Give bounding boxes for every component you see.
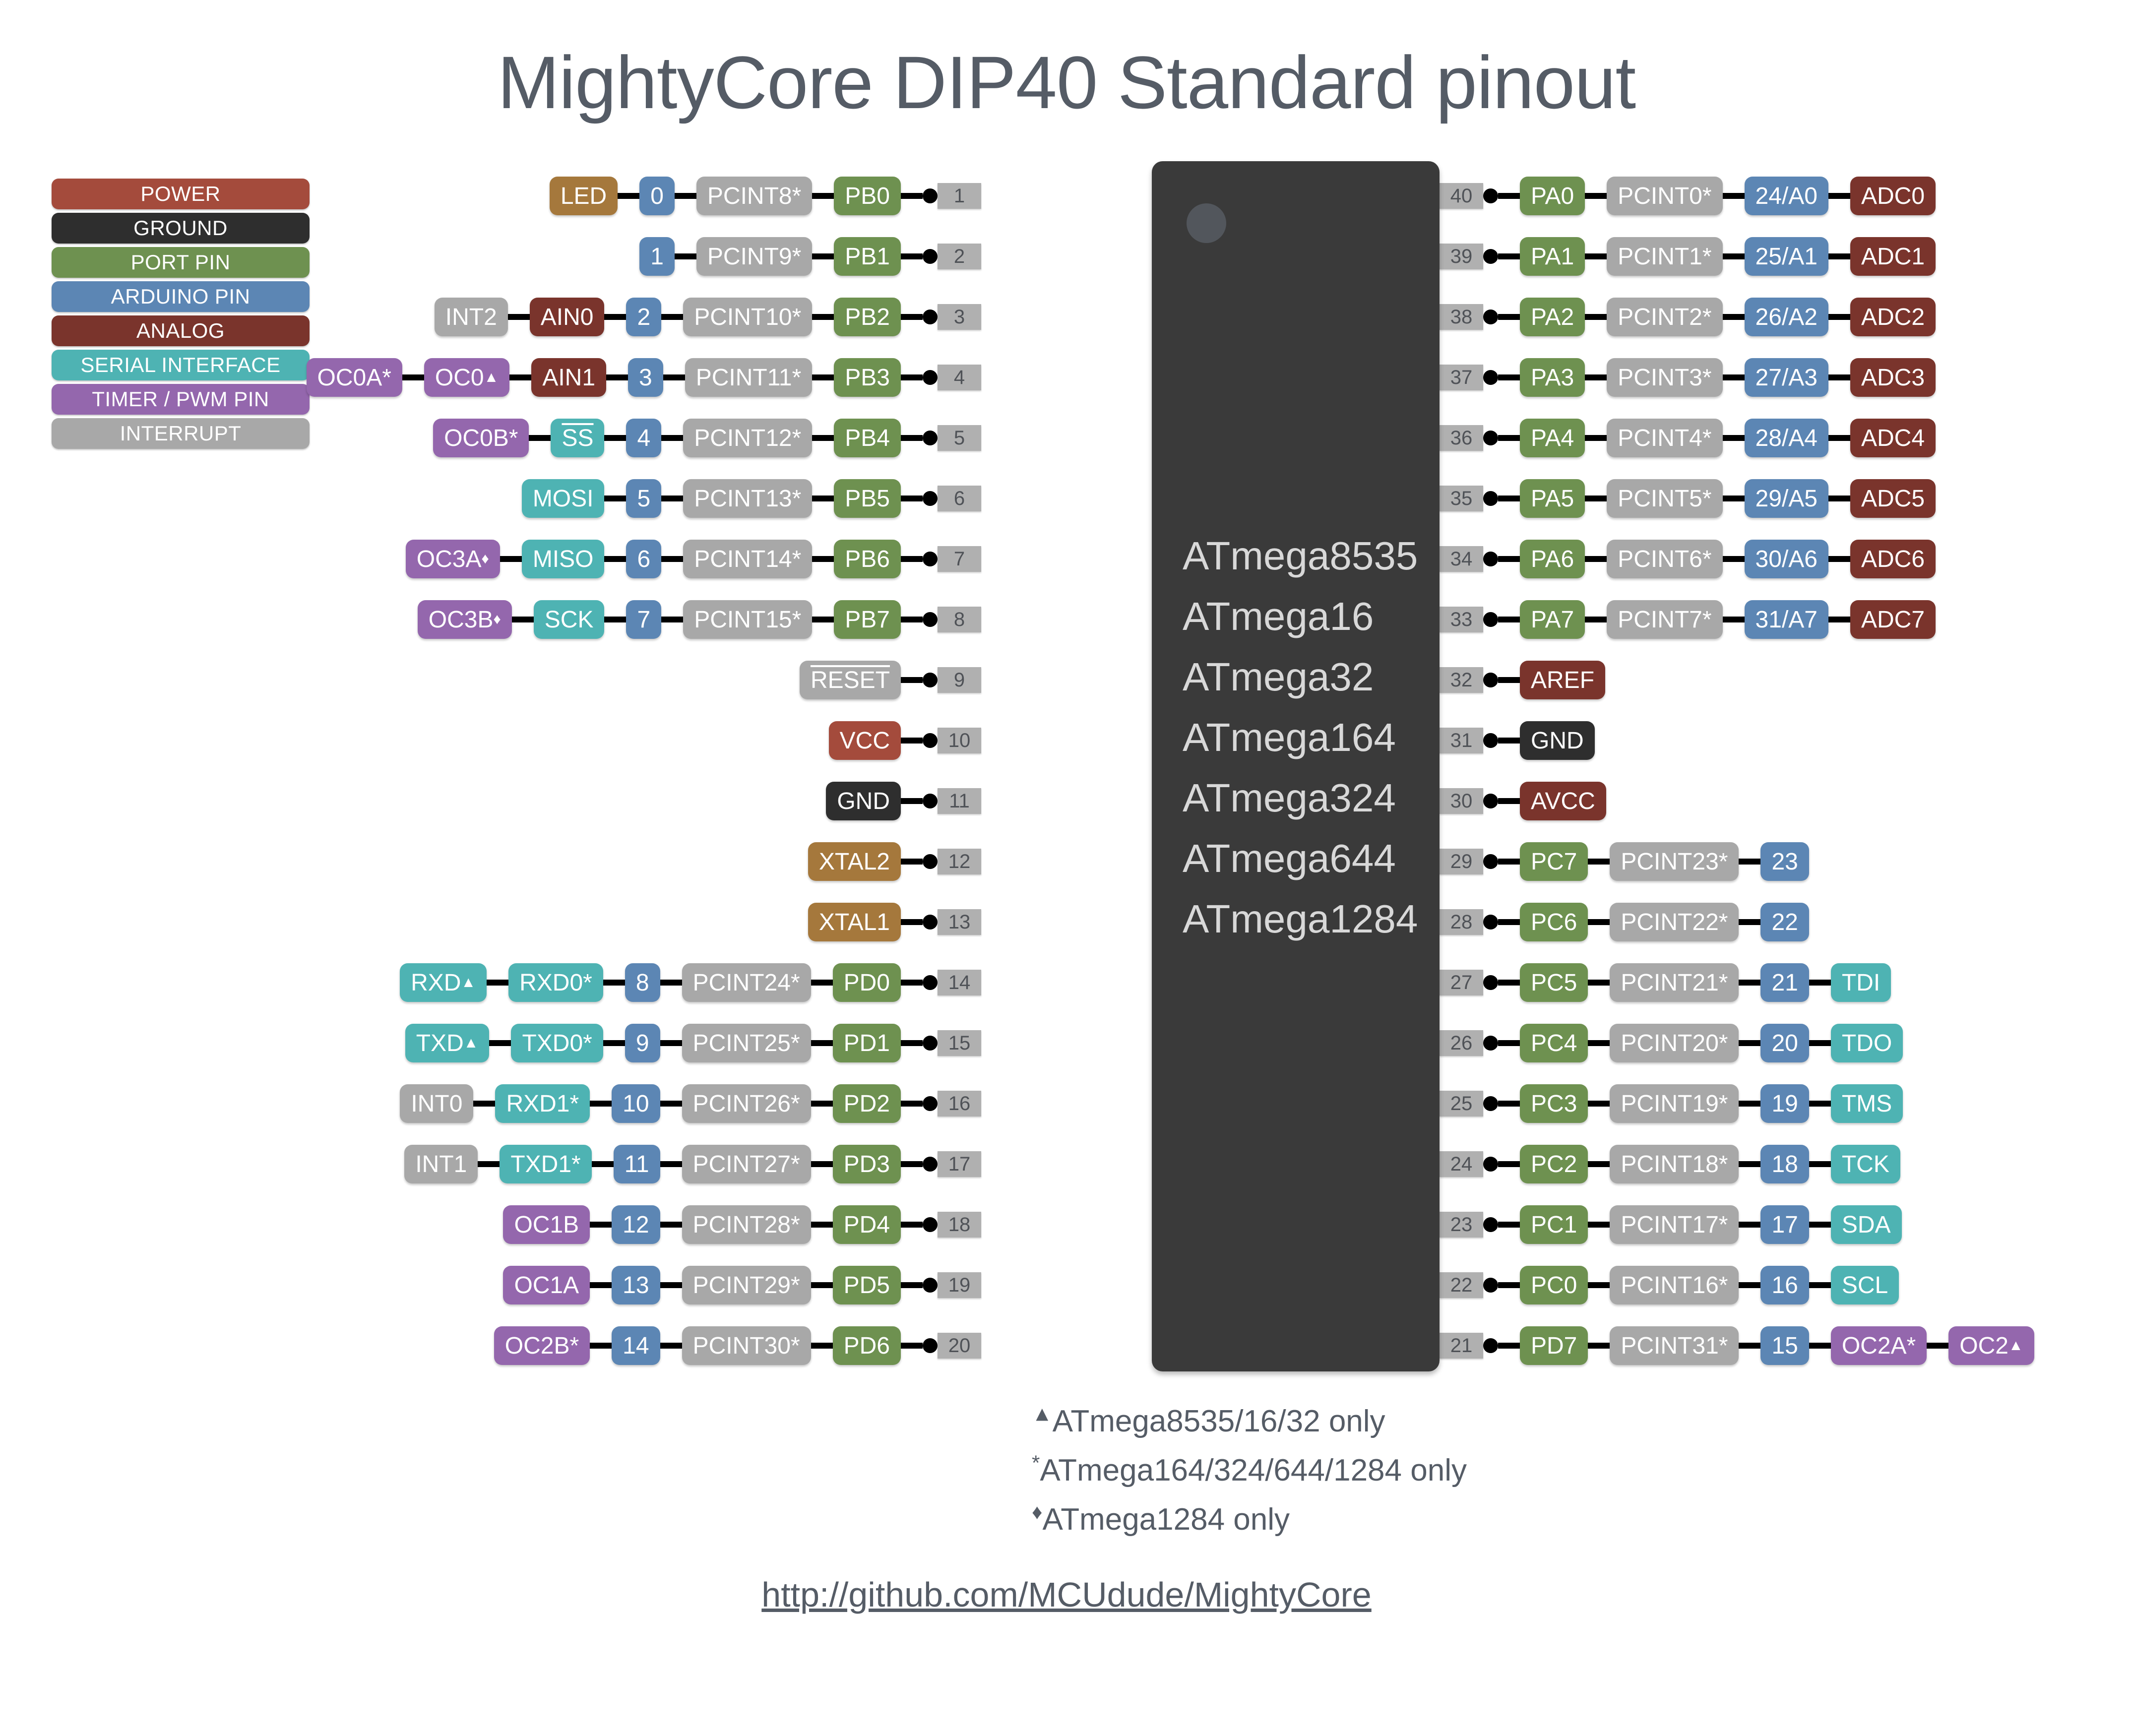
- pin-label-0: 0: [639, 177, 675, 215]
- pin-label-chain: XTAL1: [808, 903, 901, 941]
- pin-label-pd7: PD7: [1520, 1326, 1588, 1365]
- connector-line: [1927, 1343, 1948, 1349]
- pin-label-adc0: ADC0: [1850, 177, 1936, 215]
- pin-label-text: RXD1*: [506, 1090, 579, 1117]
- pin-number: 4: [938, 365, 981, 390]
- pin-label-chain: PC3PCINT19*19TMS: [1520, 1084, 1903, 1123]
- connector-line: [1809, 1343, 1831, 1349]
- legend: POWERGROUNDPORT PINARDUINO PINANALOGSERI…: [52, 179, 310, 449]
- pin-lead: [1483, 794, 1520, 808]
- legend-item-power: POWER: [52, 179, 310, 209]
- connector-line: [1723, 496, 1745, 501]
- pin-label-int1: INT1: [404, 1145, 478, 1183]
- pin-label-adc2: ADC2: [1850, 298, 1936, 336]
- connector-line: [1723, 435, 1745, 441]
- pin-label-pcint16: PCINT16*: [1610, 1266, 1739, 1304]
- connector-line: [1739, 980, 1760, 986]
- connector-line: [811, 1343, 833, 1349]
- pin-label-chain: INT1TXD1*11PCINT27*PD3: [404, 1145, 901, 1183]
- pin-label-text: PD1: [844, 1030, 890, 1057]
- pin-number: 19: [938, 1272, 981, 1298]
- pin-label-adc1: ADC1: [1850, 237, 1936, 276]
- pin-label-int0: INT0: [400, 1084, 473, 1123]
- pin-label-text: ADC7: [1861, 606, 1925, 633]
- lead-line: [901, 738, 923, 744]
- pin-label-text: RXD: [411, 969, 461, 996]
- pin-label-text: PC4: [1531, 1030, 1577, 1057]
- pin-label-text: 6: [637, 546, 650, 573]
- pin-label-text: 21: [1771, 969, 1798, 996]
- pin-label-chain: OC1A13PCINT29*PD5: [503, 1266, 901, 1304]
- pin-label-16: 16: [1760, 1266, 1809, 1304]
- pin-label-text: 8: [636, 969, 649, 996]
- pin-label-oc0: OC0▲: [424, 358, 509, 397]
- pin-label-ss: SS: [551, 419, 604, 457]
- connector-line: [811, 1040, 833, 1046]
- pin-lead: [1483, 673, 1520, 687]
- pin-label-pcint5: PCINT5*: [1607, 479, 1722, 518]
- pin-label-txd: TXD▲: [405, 1024, 490, 1062]
- pin-label-chain: OC3A♦MISO6PCINT14*PB6: [406, 540, 901, 578]
- lead-dot-icon: [1483, 1278, 1498, 1293]
- project-url[interactable]: http://github.com/MCUdude/MightyCore: [0, 1575, 2133, 1614]
- connector-line: [603, 980, 625, 986]
- pin-lead: [901, 249, 938, 264]
- lead-line: [1498, 253, 1520, 259]
- connector-line: [604, 556, 626, 562]
- legend-item-arduino-pin: ARDUINO PIN: [52, 281, 310, 312]
- pin-label-pcint19: PCINT19*: [1610, 1084, 1739, 1123]
- connector-line: [661, 435, 683, 441]
- pin-number: 21: [1440, 1333, 1483, 1359]
- lead-line: [1498, 798, 1520, 804]
- pin-label-pb7: PB7: [834, 600, 901, 639]
- pin-label-text: 14: [623, 1332, 649, 1360]
- pin-label-text: OC3B: [429, 606, 494, 633]
- lead-dot-icon: [1483, 188, 1498, 203]
- pin-label-text: XTAL1: [819, 909, 890, 936]
- pin-label-text: PCINT13*: [694, 485, 801, 512]
- pin-lead: [901, 1338, 938, 1353]
- pin-label-txd0: TXD0*: [511, 1024, 603, 1062]
- pin-lead: [901, 431, 938, 445]
- pin-label-text: 26/A2: [1756, 304, 1818, 331]
- lead-line: [1498, 374, 1520, 380]
- pin-lead: [901, 370, 938, 385]
- lead-line: [901, 496, 923, 501]
- pin-label-text: PA6: [1531, 546, 1574, 573]
- pin-label-text: PB5: [845, 485, 890, 512]
- connector-line: [1828, 556, 1850, 562]
- lead-dot-icon: [1483, 612, 1498, 627]
- lead-dot-icon: [923, 854, 938, 869]
- connector-line: [1809, 1222, 1831, 1228]
- pin-row: 34PA6PCINT6*30/A6ADC6: [1440, 540, 1936, 578]
- pin-label-chain: 1PCINT9*PB1: [639, 237, 901, 276]
- lead-line: [1498, 859, 1520, 865]
- connector-line: [1585, 374, 1607, 380]
- pin-label-chain: PC2PCINT18*18TCK: [1520, 1145, 1900, 1183]
- connector-line: [1828, 253, 1850, 259]
- pin-row: 40PA0PCINT0*24/A0ADC0: [1440, 177, 1936, 215]
- connector-line: [660, 1161, 682, 1167]
- pin-number: 17: [938, 1151, 981, 1177]
- pin-label-text: INT0: [411, 1090, 462, 1117]
- pin-row: OC0A*OC0▲AIN13PCINT11*PB34: [307, 358, 981, 397]
- pin-lead: [1483, 975, 1520, 990]
- pin-label-text: ADC4: [1861, 425, 1925, 452]
- pin-label-pcint13: PCINT13*: [683, 479, 812, 518]
- pin-label-chain: PC6PCINT22*22: [1520, 903, 1809, 941]
- pin-label-text: AVCC: [1531, 788, 1595, 815]
- connector-line: [1588, 1040, 1610, 1046]
- lead-dot-icon: [1483, 733, 1498, 748]
- lead-dot-icon: [923, 1036, 938, 1051]
- pin-lead: [901, 975, 938, 990]
- pin-label-tck: TCK: [1831, 1145, 1900, 1183]
- pin-label-text: PB0: [845, 183, 890, 210]
- pin-label-text: PCINT29*: [693, 1272, 800, 1299]
- pin-label-pa6: PA6: [1520, 540, 1585, 578]
- connector-line: [811, 980, 833, 986]
- pin-label-pcint8: PCINT8*: [696, 177, 812, 215]
- pin-label-text: 3: [639, 364, 652, 391]
- pin-label-chain: PA7PCINT7*31/A7ADC7: [1520, 600, 1936, 639]
- pin-row: 27PC5PCINT21*21TDI: [1440, 963, 1891, 1002]
- pin-label-text: PD4: [844, 1211, 890, 1239]
- connector-line: [1809, 1040, 1831, 1046]
- pin-label-sda: SDA: [1831, 1205, 1902, 1244]
- connector-line: [604, 617, 626, 622]
- lead-dot-icon: [1483, 249, 1498, 264]
- pin-label-chain: GND: [1520, 721, 1595, 760]
- legend-item-interrupt: INTERRUPT: [52, 418, 310, 449]
- lead-dot-icon: [1483, 1157, 1498, 1172]
- pin-number: 26: [1440, 1030, 1483, 1056]
- connector-line: [1828, 435, 1850, 441]
- connector-line: [811, 1222, 833, 1228]
- pin-label-text: 18: [1771, 1151, 1798, 1178]
- pin-label-text: PA5: [1531, 485, 1574, 512]
- pin-label-tms: TMS: [1831, 1084, 1903, 1123]
- pin-label-text: AIN1: [542, 364, 595, 391]
- pin-lead: [901, 1096, 938, 1111]
- pin-label-pc2: PC2: [1520, 1145, 1588, 1183]
- pin-label-pd1: PD1: [833, 1024, 901, 1062]
- pin-number: 40: [1440, 183, 1483, 209]
- pin-label-pcint12: PCINT12*: [683, 419, 812, 457]
- connector-line: [812, 374, 834, 380]
- pin-label-text: 31/A7: [1756, 606, 1818, 633]
- pin-number: 36: [1440, 425, 1483, 451]
- mcu-chip-body: ATmega8535ATmega16ATmega32ATmega164ATmeg…: [1152, 161, 1440, 1371]
- pin-label-pcint21: PCINT21*: [1610, 963, 1739, 1002]
- pin-label-text: 4: [637, 425, 650, 452]
- legend-item-port-pin: PORT PIN: [52, 247, 310, 278]
- pin-label-text: ADC1: [1861, 243, 1925, 270]
- footnote-marker-icon: ▲: [1032, 1402, 1053, 1425]
- pin-label-pd0: PD0: [833, 963, 901, 1002]
- pin-row: 22PC0PCINT16*16SCL: [1440, 1266, 1899, 1304]
- pin-label-text: ADC0: [1861, 183, 1925, 210]
- connector-line: [812, 435, 834, 441]
- connector-line: [1588, 1222, 1610, 1228]
- pin-label-text: 19: [1771, 1090, 1798, 1117]
- pin-label-chain: RXD▲RXD0*8PCINT24*PD0: [400, 963, 901, 1002]
- connector-line: [1588, 1161, 1610, 1167]
- pin-label-pcint17: PCINT17*: [1610, 1205, 1739, 1244]
- connector-line: [604, 496, 626, 501]
- pin-label-tdo: TDO: [1831, 1024, 1903, 1062]
- pin-label-text: PCINT26*: [693, 1090, 800, 1117]
- pin-label-chain: PC0PCINT16*16SCL: [1520, 1266, 1899, 1304]
- connector-line: [812, 617, 834, 622]
- pin-row: TXD▲TXD0*9PCINT25*PD115: [405, 1024, 981, 1062]
- lead-line: [901, 314, 923, 320]
- pin-label-pcint9: PCINT9*: [696, 237, 812, 276]
- pin-label-21: 21: [1760, 963, 1809, 1002]
- pin-label-pcint28: PCINT28*: [682, 1205, 811, 1244]
- pin-number: 31: [1440, 728, 1483, 753]
- lead-dot-icon: [1483, 491, 1498, 506]
- pin-label-pa2: PA2: [1520, 298, 1585, 336]
- pin-label-chain: PA3PCINT3*27/A3ADC3: [1520, 358, 1936, 397]
- pin-label-text: PB7: [845, 606, 890, 633]
- pin-label-oc0b: OC0B*: [433, 419, 529, 457]
- pin-label-text: PCINT17*: [1621, 1211, 1728, 1239]
- pin-label-chain: INT0RXD1*10PCINT26*PD2: [400, 1084, 901, 1123]
- lead-line: [1498, 617, 1520, 622]
- pin-label-oc2b: OC2B*: [494, 1326, 590, 1365]
- footnote: *ATmega164/324/644/1284 only: [1032, 1453, 1467, 1488]
- pin-lead: [901, 854, 938, 869]
- connector-line: [812, 193, 834, 199]
- pin-label-pd5: PD5: [833, 1266, 901, 1304]
- chip-part-number: ATmega32: [1152, 647, 1440, 707]
- pin-label-pcint0: PCINT0*: [1607, 177, 1722, 215]
- pin-number: 25: [1440, 1091, 1483, 1116]
- footnote-text: ATmega8535/16/32 only: [1053, 1404, 1385, 1438]
- lead-dot-icon: [923, 975, 938, 990]
- pin-label-text: 30/A6: [1756, 546, 1818, 573]
- connector-line: [675, 193, 696, 199]
- pin-label-1: 1: [639, 237, 675, 276]
- pin-row: RESET9: [800, 661, 981, 699]
- pin-label-pa1: PA1: [1520, 237, 1585, 276]
- pin-label-text: 24/A0: [1756, 183, 1818, 210]
- pin-label-text: PB4: [845, 425, 890, 452]
- pin-label-text: PA3: [1531, 364, 1574, 391]
- pin-label-10: 10: [612, 1084, 660, 1123]
- footnote-marker-icon: ♦: [1032, 1500, 1042, 1523]
- pin-lead: [901, 491, 938, 506]
- lead-dot-icon: [1483, 854, 1498, 869]
- pin-label-text: 16: [1771, 1272, 1798, 1299]
- pin-row: OC3B♦SCK7PCINT15*PB78: [418, 600, 981, 639]
- pin-label-chain: OC3B♦SCK7PCINT15*PB7: [418, 600, 901, 639]
- pin-number: 29: [1440, 849, 1483, 874]
- pin-label-text: PB2: [845, 304, 890, 331]
- pin-lead: [901, 733, 938, 748]
- lead-line: [1498, 677, 1520, 683]
- pin-label-text: PCINT15*: [694, 606, 801, 633]
- connector-line: [661, 617, 683, 622]
- pin-label-chain: PA2PCINT2*26/A2ADC2: [1520, 298, 1936, 336]
- pin-label-text: ADC5: [1861, 485, 1925, 512]
- pin-number: 6: [938, 486, 981, 511]
- lead-dot-icon: [1483, 370, 1498, 385]
- pin-label-gnd: GND: [826, 782, 901, 820]
- pin-row: 39PA1PCINT1*25/A1ADC1: [1440, 237, 1936, 276]
- pin-label-text: PCINT18*: [1621, 1151, 1728, 1178]
- lead-line: [1498, 1343, 1520, 1349]
- pin-label-text: 12: [623, 1211, 649, 1239]
- pin-label-text: TDI: [1842, 969, 1880, 996]
- pin-label-text: PCINT1*: [1618, 243, 1711, 270]
- lead-line: [1498, 1222, 1520, 1228]
- connector-line: [592, 1161, 614, 1167]
- pin-label-pcint11: PCINT11*: [685, 358, 813, 397]
- pin-label-pa5: PA5: [1520, 479, 1585, 518]
- pin-row: 32AREF: [1440, 661, 1605, 699]
- connector-line: [1588, 1101, 1610, 1107]
- pin-label-text: PCINT0*: [1618, 183, 1711, 210]
- connector-line: [811, 1161, 833, 1167]
- pin-label-text: PCINT4*: [1618, 425, 1711, 452]
- pin-label-gnd: GND: [1520, 721, 1595, 760]
- pin-label-text: OC1A: [514, 1272, 579, 1299]
- pin-row: 38PA2PCINT2*26/A2ADC2: [1440, 298, 1936, 336]
- pin-number: 37: [1440, 365, 1483, 390]
- connector-line: [590, 1282, 612, 1288]
- pin-number: 5: [938, 425, 981, 451]
- connector-line: [1809, 1101, 1831, 1107]
- connector-line: [1739, 1040, 1760, 1046]
- pin-row: 31GND: [1440, 721, 1595, 760]
- lead-line: [901, 1343, 923, 1349]
- pin-label-rxd1: RXD1*: [495, 1084, 590, 1123]
- pin-label-pc1: PC1: [1520, 1205, 1588, 1244]
- lead-line: [901, 193, 923, 199]
- pin-row: VCC10: [829, 721, 981, 760]
- pin-label-chain: TXD▲TXD0*9PCINT25*PD1: [405, 1024, 901, 1062]
- pin-label-reset: RESET: [800, 661, 901, 699]
- pin-label-text: GND: [837, 788, 890, 815]
- pin-label-text: 17: [1771, 1211, 1798, 1239]
- connector-line: [1585, 617, 1607, 622]
- pin-lead: [1483, 1278, 1520, 1293]
- pin-label-pa3: PA3: [1520, 358, 1585, 397]
- pin-number: 22: [1440, 1272, 1483, 1298]
- pin-label-text: OC1B: [514, 1211, 579, 1239]
- pin-label-oc2a: OC2A*: [1831, 1326, 1927, 1365]
- pin-label-pcint6: PCINT6*: [1607, 540, 1722, 578]
- pin-row: OC1B12PCINT28*PD418: [503, 1205, 981, 1244]
- pin-number: 1: [938, 183, 981, 209]
- lead-line: [901, 1040, 923, 1046]
- footnotes: ▲ATmega8535/16/32 only*ATmega164/324/644…: [1032, 1404, 1467, 1537]
- chip-part-number: ATmega164: [1152, 707, 1440, 768]
- pin-label-text: ADC3: [1861, 364, 1925, 391]
- pin-label-text: 25/A1: [1756, 243, 1818, 270]
- pin-label-text: PB1: [845, 243, 890, 270]
- chip-part-number-list: ATmega8535ATmega16ATmega32ATmega164ATmeg…: [1152, 161, 1440, 1371]
- lead-dot-icon: [1483, 975, 1498, 990]
- connector-line: [1828, 314, 1850, 320]
- lead-line: [901, 1222, 923, 1228]
- connector-line: [1739, 859, 1760, 865]
- pin-label-text: 10: [623, 1090, 649, 1117]
- connector-line: [1723, 193, 1745, 199]
- pin-label-text: AIN0: [541, 304, 594, 331]
- connector-line: [1828, 617, 1850, 622]
- pin-label-tdi: TDI: [1831, 963, 1891, 1002]
- connector-line: [473, 1101, 495, 1107]
- pin-label-ain1: AIN1: [531, 358, 606, 397]
- pin-label-text: PA4: [1531, 425, 1574, 452]
- pin-label-ain0: AIN0: [530, 298, 605, 336]
- pin-label-text: PC3: [1531, 1090, 1577, 1117]
- pin-number: 12: [938, 849, 981, 874]
- pin-number: 14: [938, 970, 981, 995]
- connector-line: [1585, 496, 1607, 501]
- lead-line: [901, 677, 923, 683]
- pin-row: 21PD7PCINT31*15OC2A*OC2▲: [1440, 1326, 2034, 1365]
- pin-label-text: PCINT12*: [694, 425, 801, 452]
- pin-label-pa0: PA0: [1520, 177, 1585, 215]
- pin-label-miso: MISO: [522, 540, 605, 578]
- pin-label-text: MISO: [533, 546, 594, 573]
- pin-label-text: PD5: [844, 1272, 890, 1299]
- connector-line: [675, 253, 696, 259]
- pin-lead: [1483, 915, 1520, 930]
- pin-number: 18: [938, 1212, 981, 1238]
- connector-line: [812, 253, 834, 259]
- pin-row: 37PA3PCINT3*27/A3ADC3: [1440, 358, 1936, 397]
- pin-number: 33: [1440, 607, 1483, 632]
- pin-label-text: OC3A: [417, 546, 482, 573]
- pin-label-chain: PA1PCINT1*25/A1ADC1: [1520, 237, 1936, 276]
- pin-label-chain: MOSI5PCINT13*PB5: [522, 479, 901, 518]
- pin-label-pcint4: PCINT4*: [1607, 419, 1722, 457]
- lead-line: [1498, 1161, 1520, 1167]
- connector-line: [603, 1040, 625, 1046]
- pin-label-text: PB3: [845, 364, 890, 391]
- pin-label-text: TCK: [1842, 1151, 1889, 1178]
- pin-label-9: 9: [625, 1024, 660, 1062]
- connector-line: [487, 980, 508, 986]
- pin-label-chain: LED0PCINT8*PB0: [550, 177, 901, 215]
- connector-line: [604, 435, 626, 441]
- connector-line: [1585, 193, 1607, 199]
- pin-label-aref: AREF: [1520, 661, 1605, 699]
- connector-line: [1739, 1282, 1760, 1288]
- pin-label-text: 13: [623, 1272, 649, 1299]
- connector-line: [1723, 556, 1745, 562]
- connector-line: [509, 374, 531, 380]
- pin-label-pb2: PB2: [834, 298, 901, 336]
- pin-lead: [1483, 188, 1520, 203]
- lead-dot-icon: [1483, 915, 1498, 930]
- pin-label-text: SCK: [545, 606, 594, 633]
- pin-label-pcint7: PCINT7*: [1607, 600, 1722, 639]
- pin-label-text: PB6: [845, 546, 890, 573]
- pin-lead: [901, 188, 938, 203]
- pin-label-20: 20: [1760, 1024, 1809, 1062]
- pin-label-text: VCC: [840, 727, 890, 754]
- pin-label-pcint1: PCINT1*: [1607, 237, 1722, 276]
- connector-line: [529, 435, 551, 441]
